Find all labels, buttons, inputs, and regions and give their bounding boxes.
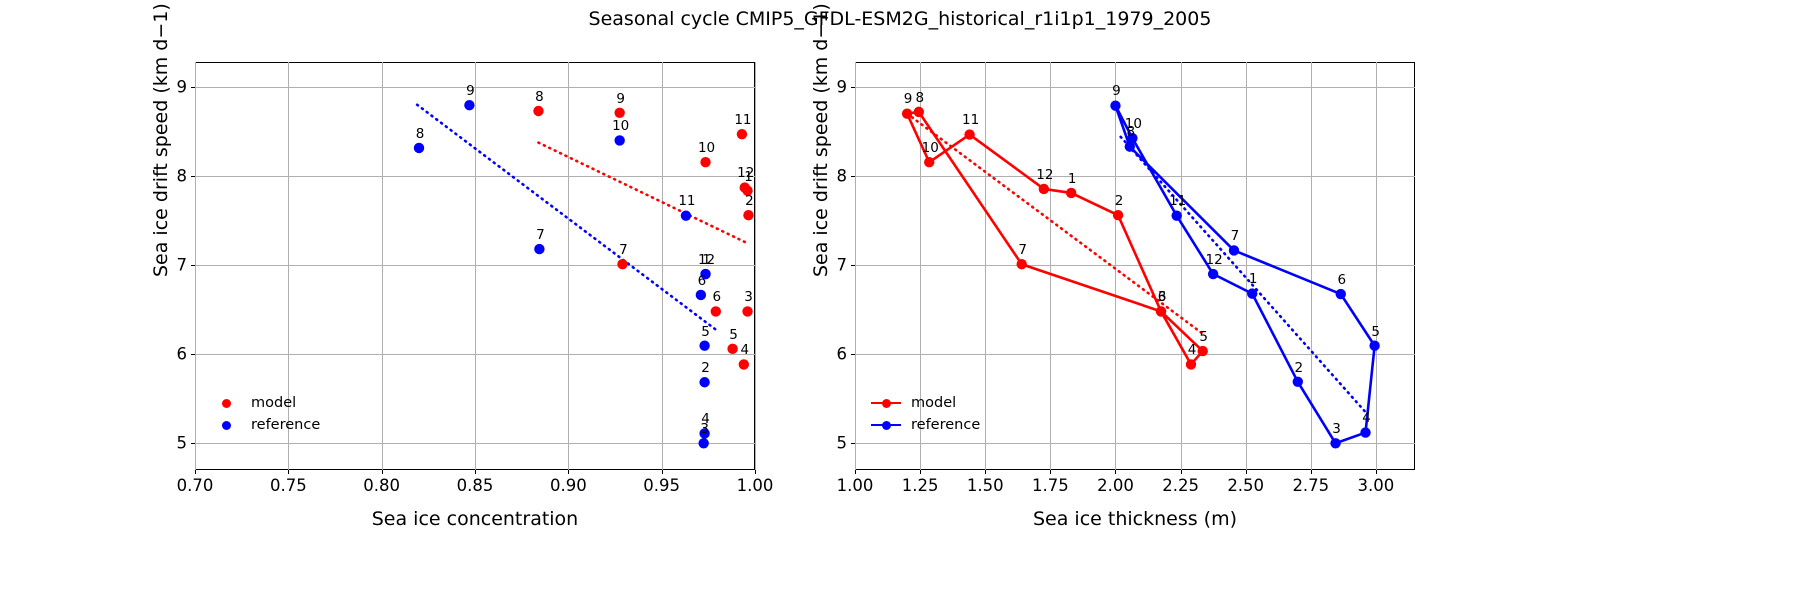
data-point-model-10[interactable]: [700, 157, 710, 167]
data-point-model-12[interactable]: [1039, 184, 1049, 194]
y-tick-mark: [851, 443, 855, 444]
data-point-reference-1[interactable]: [1247, 288, 1257, 298]
x-tick-mark: [1115, 470, 1116, 474]
data-point-reference-10[interactable]: [614, 135, 624, 145]
data-point-reference-12[interactable]: [700, 269, 710, 279]
data-point-reference-3[interactable]: [698, 438, 708, 448]
y-tick-label: 5: [825, 434, 847, 453]
data-point-reference-8[interactable]: [414, 143, 424, 153]
x-tick-label: 0.80: [363, 476, 400, 495]
y-tick-mark: [191, 443, 195, 444]
x-tick-mark: [1311, 470, 1312, 474]
x-tick-mark: [662, 470, 663, 474]
y-tick-mark: [851, 265, 855, 266]
legend-label-reference: reference: [251, 417, 320, 433]
data-point-model-11[interactable]: [964, 129, 974, 139]
left-x-axis-title: Sea ice concentration: [195, 508, 755, 530]
gridline-vertical: [755, 62, 756, 470]
legend-entry-reference[interactable]: reference: [209, 414, 320, 436]
data-point-reference-4[interactable]: [1360, 427, 1370, 437]
data-point-model-5[interactable]: [727, 344, 737, 354]
y-tick-mark: [851, 354, 855, 355]
series-line-reference: [1115, 106, 1374, 444]
data-point-reference-9[interactable]: [1110, 100, 1120, 110]
right-legend: model reference: [869, 392, 980, 436]
x-tick-mark: [1376, 470, 1377, 474]
y-tick-label: 5: [165, 434, 187, 453]
x-tick-label: 1.00: [837, 476, 874, 495]
data-point-reference-11[interactable]: [1171, 210, 1181, 220]
right-x-axis-title: Sea ice thickness (m): [855, 508, 1415, 530]
data-point-model-8[interactable]: [914, 107, 924, 117]
data-point-reference-9[interactable]: [464, 100, 474, 110]
legend-entry-model[interactable]: model: [209, 392, 320, 414]
y-tick-label: 6: [825, 345, 847, 364]
data-point-model-6[interactable]: [1156, 306, 1166, 316]
x-tick-mark: [985, 470, 986, 474]
x-tick-mark: [1246, 470, 1247, 474]
data-point-model-3[interactable]: [742, 306, 752, 316]
figure-canvas: Seasonal cycle CMIP5_GFDL-ESM2G_historic…: [0, 0, 1800, 600]
x-tick-label: 2.00: [1097, 476, 1134, 495]
data-point-model-2[interactable]: [743, 210, 753, 220]
data-point-reference-7[interactable]: [534, 244, 544, 254]
x-tick-label: 0.90: [550, 476, 587, 495]
x-tick-label: 1.25: [902, 476, 939, 495]
legend-line-model-icon: [869, 396, 903, 410]
data-point-model-4[interactable]: [1186, 359, 1196, 369]
data-point-reference-4[interactable]: [699, 428, 709, 438]
series-line-model: [907, 112, 1203, 365]
x-tick-mark: [920, 470, 921, 474]
data-point-model-7[interactable]: [1016, 259, 1026, 269]
legend-label-model: model: [251, 395, 296, 411]
y-tick-mark: [191, 354, 195, 355]
data-point-model-10[interactable]: [924, 157, 934, 167]
data-point-model-4[interactable]: [739, 359, 749, 369]
right-line-panel: 123456789101112123456789101112 model ref…: [855, 62, 1415, 470]
data-point-model-1[interactable]: [1066, 188, 1076, 198]
legend-label-model: model: [911, 395, 956, 411]
trendline-model-fit: [538, 143, 747, 244]
data-point-model-7[interactable]: [617, 259, 627, 269]
legend-entry-model[interactable]: model: [869, 392, 980, 414]
x-tick-label: 0.95: [643, 476, 680, 495]
data-point-model-9[interactable]: [902, 108, 912, 118]
legend-label-reference: reference: [911, 417, 980, 433]
legend-entry-reference[interactable]: reference: [869, 414, 980, 436]
data-point-model-8[interactable]: [533, 106, 543, 116]
x-tick-mark: [1181, 470, 1182, 474]
x-tick-mark: [568, 470, 569, 474]
trendline-reference-fit: [1121, 137, 1366, 412]
x-tick-label: 0.70: [177, 476, 214, 495]
y-tick-mark: [191, 265, 195, 266]
data-point-model-6[interactable]: [711, 306, 721, 316]
legend-marker-model-icon: [209, 396, 243, 410]
data-point-reference-11[interactable]: [681, 210, 691, 220]
x-tick-mark: [382, 470, 383, 474]
trendline-reference-fit: [417, 105, 718, 331]
y-tick-mark: [851, 176, 855, 177]
y-tick-mark: [191, 87, 195, 88]
data-point-model-12[interactable]: [740, 182, 750, 192]
x-tick-mark: [755, 470, 756, 474]
data-point-reference-10[interactable]: [1127, 133, 1137, 143]
data-point-reference-3[interactable]: [1330, 438, 1340, 448]
x-tick-label: 3.00: [1358, 476, 1395, 495]
x-tick-label: 1.75: [1032, 476, 1069, 495]
x-tick-label: 2.75: [1292, 476, 1329, 495]
data-point-reference-12[interactable]: [1208, 269, 1218, 279]
right-y-axis-title: Sea ice drift speed (km d−1): [810, 3, 832, 277]
x-tick-mark: [475, 470, 476, 474]
x-tick-label: 2.50: [1227, 476, 1264, 495]
left-scatter-panel: 123456789101112123456789101112 model ref…: [195, 62, 755, 470]
left-legend: model reference: [209, 392, 320, 436]
data-point-reference-5[interactable]: [1369, 341, 1379, 351]
y-tick-mark: [191, 176, 195, 177]
x-tick-mark: [195, 470, 196, 474]
data-point-reference-6[interactable]: [696, 290, 706, 300]
legend-line-reference-icon: [869, 418, 903, 432]
x-tick-label: 0.85: [457, 476, 494, 495]
data-point-model-2[interactable]: [1113, 210, 1123, 220]
figure-title: Seasonal cycle CMIP5_GFDL-ESM2G_historic…: [0, 8, 1800, 30]
data-point-model-5[interactable]: [1198, 346, 1208, 356]
x-tick-label: 1.00: [737, 476, 774, 495]
x-tick-label: 0.75: [270, 476, 307, 495]
left-y-axis-title: Sea ice drift speed (km d−1): [150, 3, 172, 277]
data-point-reference-5[interactable]: [699, 341, 709, 351]
data-point-model-11[interactable]: [737, 129, 747, 139]
data-point-reference-2[interactable]: [699, 377, 709, 387]
y-tick-label: 6: [165, 345, 187, 364]
data-point-model-9[interactable]: [614, 108, 624, 118]
data-point-reference-7[interactable]: [1229, 245, 1239, 255]
data-point-reference-2[interactable]: [1293, 377, 1303, 387]
y-tick-mark: [851, 87, 855, 88]
x-tick-label: 1.50: [967, 476, 1004, 495]
x-tick-mark: [1050, 470, 1051, 474]
legend-marker-reference-icon: [209, 418, 243, 432]
x-tick-mark: [855, 470, 856, 474]
x-tick-label: 2.25: [1162, 476, 1199, 495]
x-tick-mark: [288, 470, 289, 474]
data-point-reference-6[interactable]: [1336, 289, 1346, 299]
